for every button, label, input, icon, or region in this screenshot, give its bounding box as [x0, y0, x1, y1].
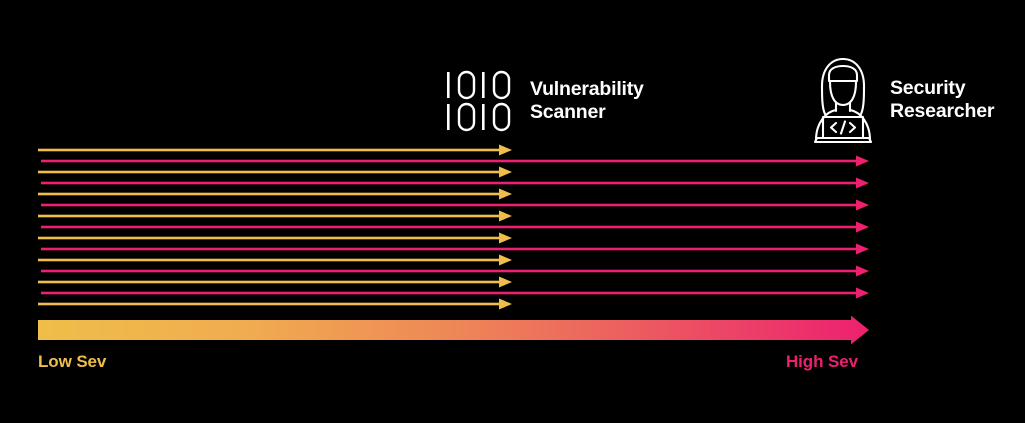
node-security-researcher: Security Researcher: [810, 56, 994, 144]
flow-arrow-high: [41, 288, 869, 299]
flow-arrow-high: [41, 156, 869, 167]
flow-arrow-low: [38, 299, 512, 310]
legend-low-severity: Low Sev: [38, 352, 106, 372]
severity-gradient-bar: [38, 316, 869, 345]
node-vulnerability-scanner: Vulnerability Scanner: [444, 70, 644, 132]
flow-arrow-low: [38, 211, 512, 222]
flow-arrow-high: [41, 200, 869, 211]
flow-arrow-high: [41, 222, 869, 233]
binary-1010-icon: [444, 70, 516, 132]
flow-arrow-high: [41, 244, 869, 255]
flow-arrow-low: [38, 233, 512, 244]
flow-arrow-high: [41, 266, 869, 277]
node-label-vulnerability-scanner: Vulnerability Scanner: [530, 78, 644, 124]
flow-arrow-low: [38, 255, 512, 266]
person-at-laptop-code-icon: [810, 56, 876, 144]
flow-arrow-low: [38, 189, 512, 200]
flow-arrow-low: [38, 145, 512, 156]
flow-arrow-low: [38, 277, 512, 288]
node-label-security-researcher: Security Researcher: [890, 77, 994, 123]
flow-arrow-high: [41, 178, 869, 189]
diagram-canvas: Vulnerability Scanner: [0, 0, 1025, 423]
flow-arrow-low: [38, 167, 512, 178]
legend-high-severity: High Sev: [786, 352, 858, 372]
